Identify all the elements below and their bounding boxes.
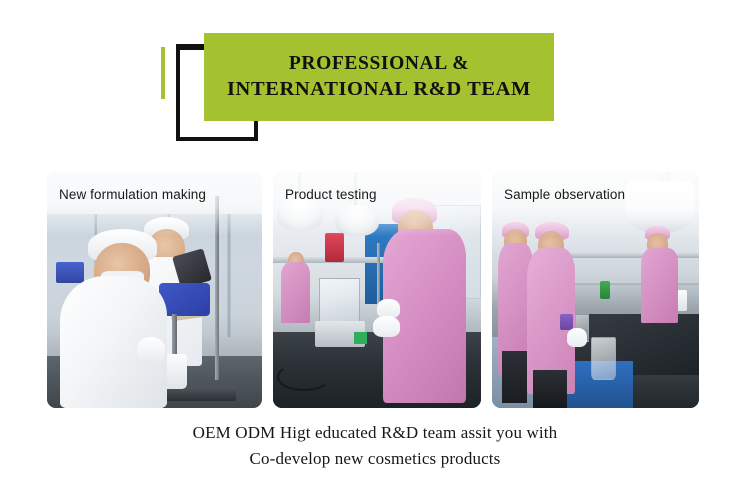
panel-caption-sample-observation: Sample observation bbox=[504, 186, 691, 203]
footer-line-2: Co-develop new cosmetics products bbox=[0, 446, 750, 472]
footer-line-1: OEM ODM Higt educated R&D team assit you… bbox=[0, 420, 750, 446]
page-title-line1: PROFESSIONAL & bbox=[289, 52, 469, 76]
green-accent-bar bbox=[161, 47, 165, 99]
promotional-banner-page: PROFESSIONAL & INTERNATIONAL R&D TEAM bbox=[0, 0, 750, 490]
caption-haze-overlay bbox=[492, 172, 699, 236]
photo-panel-product-testing[interactable]: Product testing bbox=[273, 172, 481, 408]
photo-panel-new-formulation-making[interactable]: New formulation making bbox=[47, 172, 262, 408]
header-banner: PROFESSIONAL & INTERNATIONAL R&D TEAM bbox=[0, 0, 750, 160]
photo-panel-row: New formulation making bbox=[47, 172, 703, 408]
panel-caption-new-formulation-making: New formulation making bbox=[59, 186, 254, 203]
caption-haze-overlay bbox=[273, 172, 481, 236]
panel-caption-product-testing: Product testing bbox=[285, 186, 473, 203]
photo-panel-sample-observation[interactable]: Sample observation bbox=[492, 172, 699, 408]
footer-tagline: OEM ODM Higt educated R&D team assit you… bbox=[0, 420, 750, 472]
caption-haze-overlay bbox=[47, 172, 262, 236]
page-title: PROFESSIONAL & INTERNATIONAL R&D TEAM bbox=[204, 33, 554, 121]
page-title-line2: INTERNATIONAL R&D TEAM bbox=[227, 77, 531, 102]
